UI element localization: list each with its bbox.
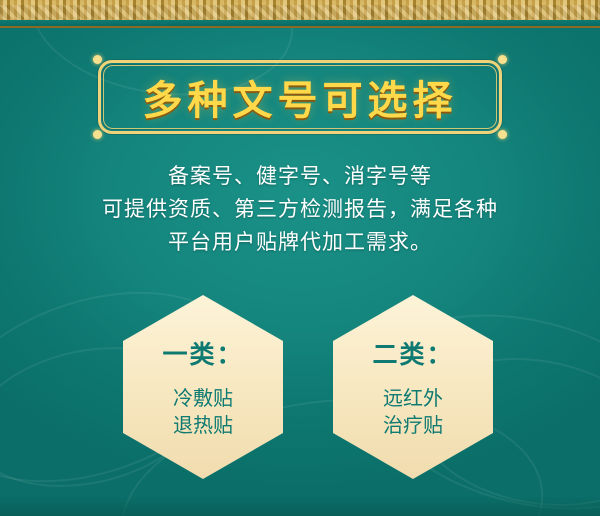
- category-card-two-line-1: 远红外: [383, 385, 443, 412]
- category-card-one: 一类： 冷敷贴 退热贴: [123, 295, 283, 479]
- poster-canvas: 多种文号可选择 备案号、健字号、消字号等 可提供资质、第三方检测报告，满足各种 …: [0, 0, 600, 516]
- category-card-one-title: 一类：: [162, 335, 243, 371]
- category-card-two-line-2: 治疗贴: [383, 412, 443, 439]
- page-title: 多种文号可选择: [98, 60, 502, 134]
- title-plaque: 多种文号可选择: [98, 60, 502, 134]
- description-line-3: 平台用户贴牌代加工需求。: [0, 226, 600, 259]
- category-card-two-title: 二类：: [372, 335, 453, 371]
- description-line-2: 可提供资质、第三方检测报告，满足各种: [0, 193, 600, 226]
- category-card-one-line-1: 冷敷贴: [173, 385, 233, 412]
- category-card-two: 二类： 远红外 治疗贴: [333, 295, 493, 479]
- category-card-two-content: 二类： 远红外 治疗贴: [333, 295, 493, 479]
- description-paragraph: 备案号、健字号、消字号等 可提供资质、第三方检测报告，满足各种 平台用户贴牌代加…: [0, 160, 600, 259]
- description-line-1: 备案号、健字号、消字号等: [0, 160, 600, 193]
- ornamental-top-border-inner: [0, 20, 600, 26]
- category-card-one-line-2: 退热贴: [173, 412, 233, 439]
- category-card-one-content: 一类： 冷敷贴 退热贴: [123, 295, 283, 479]
- bottom-gradient-strip: [0, 496, 600, 516]
